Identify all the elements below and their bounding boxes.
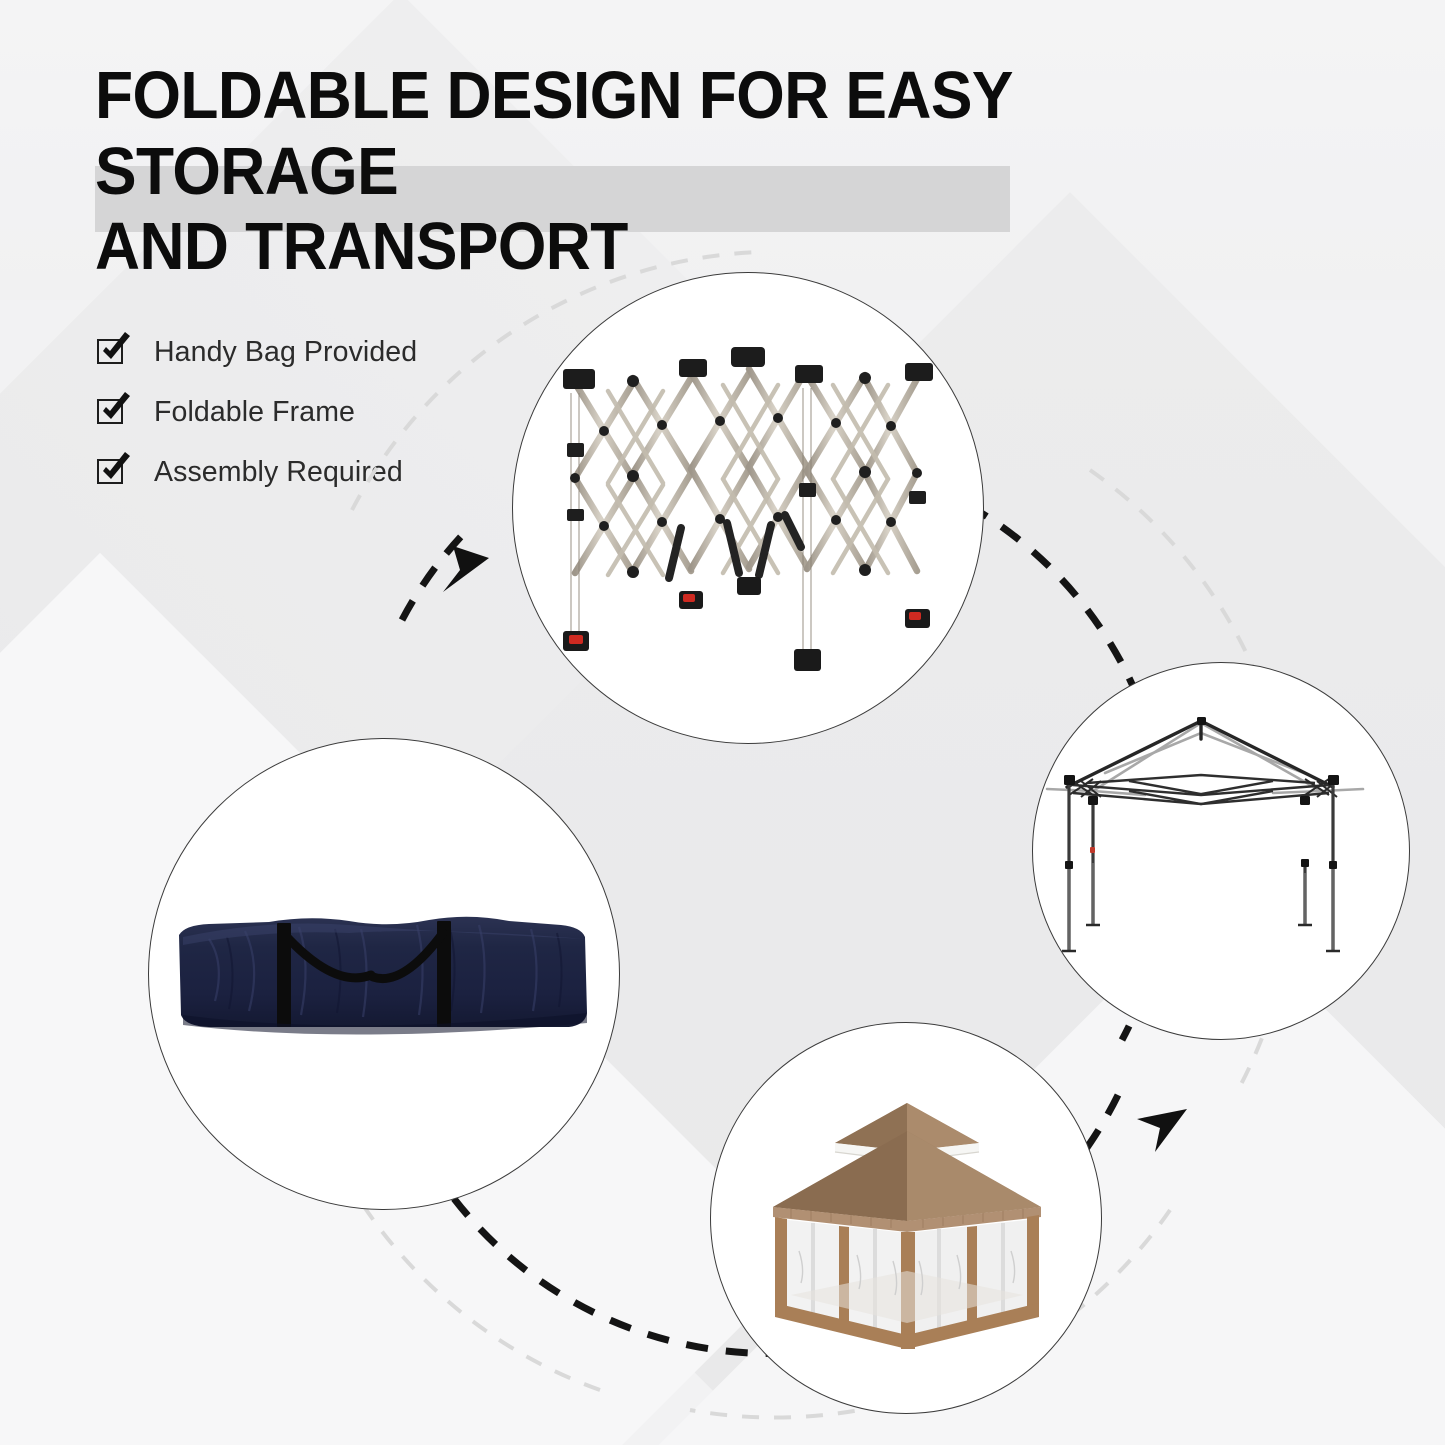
step-image-frame-open bbox=[1032, 662, 1410, 1040]
folded-frame-illustration bbox=[513, 273, 983, 743]
release-pin bbox=[1090, 847, 1095, 853]
assembled-gazebo-illustration bbox=[711, 1023, 1101, 1413]
step-image-frame-folded bbox=[512, 272, 984, 744]
step-image-gazebo-assembled bbox=[710, 1022, 1102, 1414]
step-image-carry-bag bbox=[148, 738, 620, 1210]
infographic-page: FOLDABLE DESIGN FOR EASY STORAGE AND TRA… bbox=[0, 0, 1445, 1445]
expanded-frame-illustration bbox=[1033, 663, 1409, 1039]
release-pin bbox=[569, 594, 921, 644]
carry-bag-illustration bbox=[149, 739, 619, 1209]
gazebo-roof-main bbox=[773, 1131, 1041, 1221]
